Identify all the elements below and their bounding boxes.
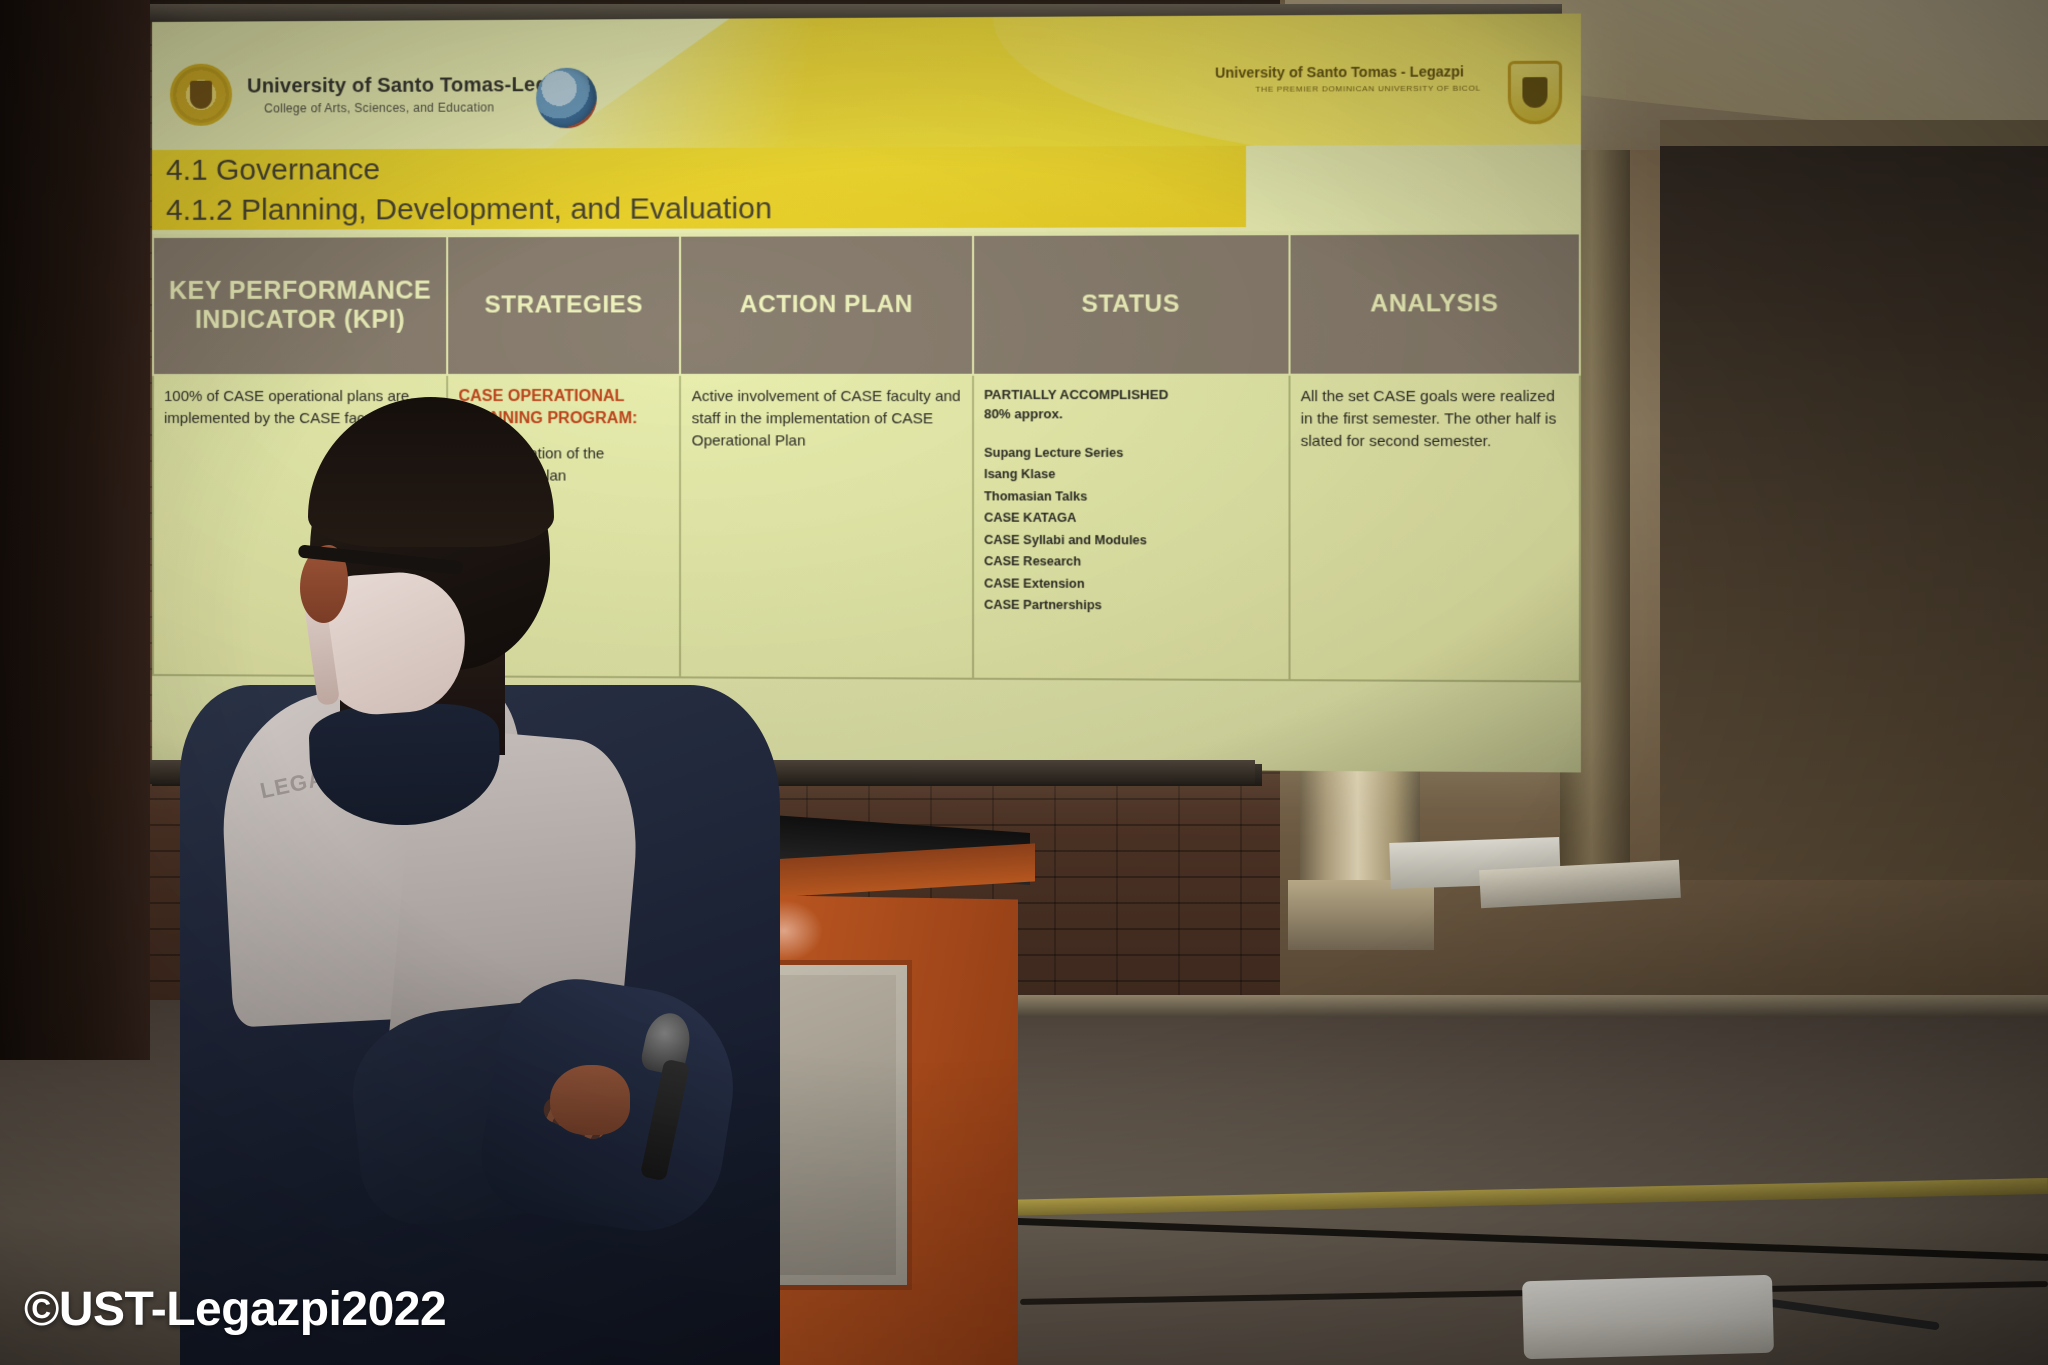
column-header-strategies: STRATEGIES <box>447 236 680 375</box>
projector <box>1522 1275 1774 1360</box>
globe-logo-icon <box>536 68 597 129</box>
ust-seal-icon <box>170 64 232 126</box>
presentation-room-photo: University of Santo Tomas-Legazpi Colleg… <box>0 0 2048 1365</box>
doorway-opening <box>1660 120 2048 880</box>
column-header-status: STATUS <box>973 234 1290 375</box>
stage-edge <box>930 995 2048 1017</box>
slide-college-name: College of Arts, Sciences, and Education <box>264 100 494 115</box>
column-header-kpi: KEY PERFORMANCE INDICATOR (KPI) <box>153 236 447 375</box>
slide-title-line1: 4.1 Governance <box>166 153 380 188</box>
cell-analysis: All the set CASE goals were realized in … <box>1289 375 1580 682</box>
column-header-action-plan: ACTION PLAN <box>681 235 973 375</box>
speaker: LEGAZPI <box>190 405 830 1365</box>
door-header-bar <box>1660 120 2048 146</box>
speaker-hand <box>550 1065 630 1135</box>
crest-icon <box>1508 61 1562 125</box>
left-wall-shadow <box>0 0 150 1060</box>
slide-right-institution: University of Santo Tomas - Legazpi <box>1215 63 1464 81</box>
status-list-item: Isang Klase <box>984 464 1278 486</box>
status-list-item: CASE Research <box>984 551 1278 574</box>
column-header-analysis: ANALYSIS <box>1289 233 1580 374</box>
speaker-hair <box>308 397 554 547</box>
slide-right-tagline: THE PREMIER DOMINICAN UNIVERSITY OF BICO… <box>1255 84 1480 94</box>
status-heading: PARTIALLY ACCOMPLISHED <box>984 386 1278 405</box>
status-item-list: Supang Lecture SeriesIsang KlaseThomasia… <box>984 442 1278 617</box>
cell-status: PARTIALLY ACCOMPLISHED 80% approx. Supan… <box>973 375 1290 680</box>
status-list-item: CASE Extension <box>984 573 1278 596</box>
status-list-item: CASE Syllabi and Modules <box>984 529 1278 552</box>
column-base <box>1288 880 1434 950</box>
table-header-row: KEY PERFORMANCE INDICATOR (KPI) STRATEGI… <box>153 233 1580 375</box>
status-list-item: CASE KATAGA <box>984 508 1278 530</box>
photo-watermark: ©UST-Legazpi2022 <box>24 1282 446 1337</box>
slide-title-line2: 4.1.2 Planning, Development, and Evaluat… <box>166 192 772 228</box>
status-percent: 80% approx. <box>984 405 1278 424</box>
status-list-item: CASE Partnerships <box>984 595 1278 618</box>
status-list-item: Thomasian Talks <box>984 486 1278 508</box>
status-list-item: Supang Lecture Series <box>984 442 1278 464</box>
slide-header: University of Santo Tomas-Legazpi Colleg… <box>152 14 1581 150</box>
